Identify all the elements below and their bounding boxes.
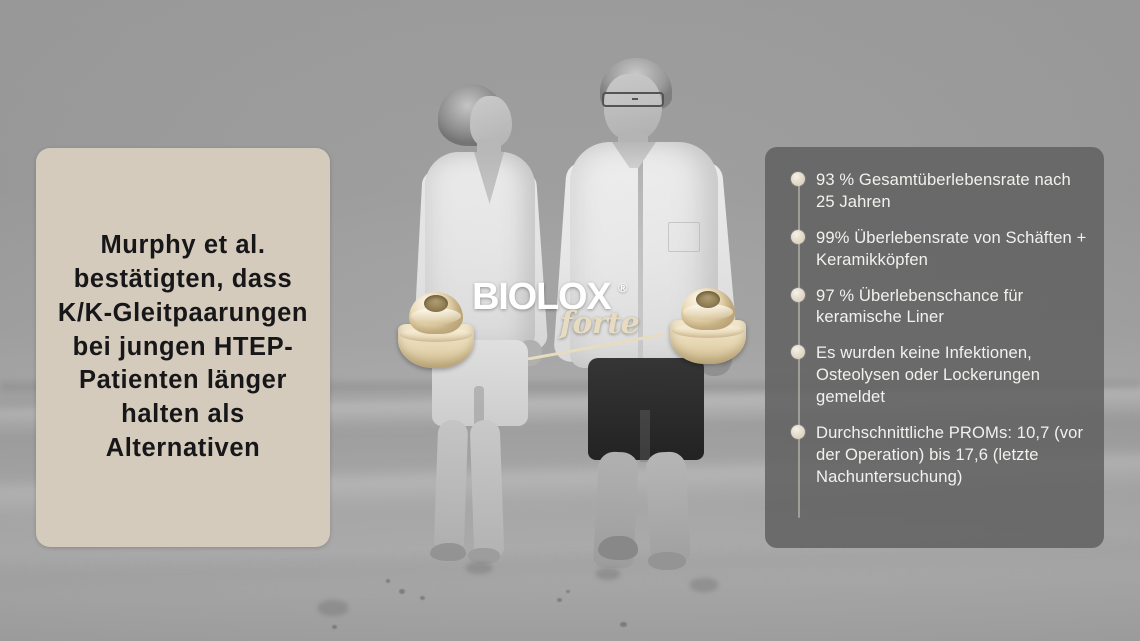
statement-text: Murphy et al. bestätigten, dass K/K-Glei… bbox=[50, 229, 316, 466]
sand-speck bbox=[332, 625, 337, 629]
list-item: 97 % Überlebenschance für keramische Lin… bbox=[783, 285, 1090, 329]
biolox-forte-logo: BIOLOX ® forte bbox=[472, 278, 648, 356]
registered-trademark-icon: ® bbox=[618, 280, 628, 295]
footprint bbox=[690, 578, 718, 592]
bullet-dot-icon bbox=[791, 345, 805, 359]
bullet-dot-icon bbox=[791, 288, 805, 302]
bullet-dot-icon bbox=[791, 230, 805, 244]
ceramic-taper-bore bbox=[696, 291, 720, 308]
results-panel: 93 % Gesamtüberlebensrate nach 25 Jahren… bbox=[765, 147, 1104, 548]
bullet-list: 93 % Gesamtüberlebensrate nach 25 Jahren… bbox=[783, 169, 1090, 488]
footprint bbox=[596, 568, 620, 580]
list-item: 93 % Gesamtüberlebensrate nach 25 Jahren bbox=[783, 169, 1090, 213]
glasses-icon bbox=[602, 92, 664, 107]
bullet-text: 99% Überlebensrate von Schäften + Kerami… bbox=[816, 227, 1090, 271]
bullet-text: 93 % Gesamtüberlebensrate nach 25 Jahren bbox=[816, 169, 1090, 213]
sand-speck bbox=[386, 579, 390, 583]
bullet-text: Durchschnittliche PROMs: 10,7 (vor der O… bbox=[816, 422, 1090, 488]
list-item: Es wurden keine Infektionen, Osteolysen … bbox=[783, 342, 1090, 408]
wet-sand-band bbox=[0, 541, 1140, 602]
list-item: Durchschnittliche PROMs: 10,7 (vor der O… bbox=[783, 422, 1090, 488]
ceramic-implant-left bbox=[398, 290, 474, 368]
statement-panel: Murphy et al. bestätigten, dass K/K-Glei… bbox=[36, 148, 330, 547]
man-shorts-gap bbox=[640, 410, 650, 462]
woman-right-leg bbox=[470, 420, 505, 559]
man-right-leg bbox=[645, 451, 691, 563]
man-left-foot bbox=[598, 536, 638, 560]
sand-speck bbox=[420, 596, 425, 600]
logo-swoosh-icon bbox=[528, 334, 666, 360]
footprint bbox=[466, 562, 492, 574]
sand-speck bbox=[566, 590, 570, 593]
man-shirt-pocket bbox=[668, 222, 700, 252]
woman-left-leg bbox=[434, 420, 469, 553]
sand-speck bbox=[399, 589, 405, 594]
ceramic-implant-right bbox=[670, 286, 746, 364]
bullet-dot-icon bbox=[791, 172, 805, 186]
woman-left-foot bbox=[430, 543, 466, 561]
bullet-text: 97 % Überlebenschance für keramische Lin… bbox=[816, 285, 1090, 329]
bullet-text: Es wurden keine Infektionen, Osteolysen … bbox=[816, 342, 1090, 408]
man-face bbox=[604, 74, 662, 140]
sand-speck bbox=[557, 598, 562, 602]
ceramic-taper-bore bbox=[424, 295, 448, 312]
bullet-dot-icon bbox=[791, 425, 805, 439]
list-item: 99% Überlebensrate von Schäften + Kerami… bbox=[783, 227, 1090, 271]
sand-speck bbox=[620, 622, 627, 627]
footprint bbox=[318, 600, 348, 616]
man-right-foot bbox=[648, 552, 686, 570]
